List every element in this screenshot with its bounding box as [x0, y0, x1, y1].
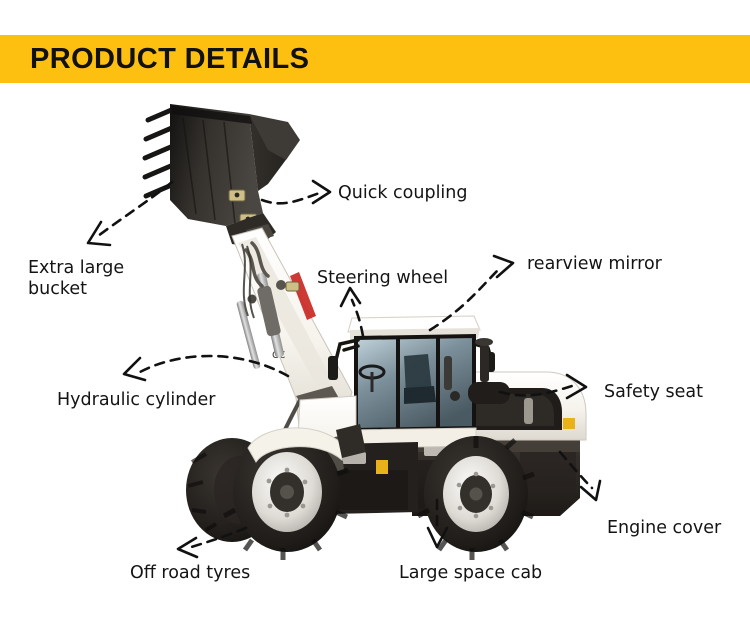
- rearview-mirror-part: [328, 356, 338, 380]
- tyre-rear-far: [186, 438, 278, 542]
- tyre-rear: [418, 436, 534, 560]
- arrow-hydraulic-cylinder: [124, 356, 288, 380]
- tyre-front: [224, 432, 348, 560]
- hydraulic-cylinder-part: [236, 272, 299, 370]
- arrow-engine-cover: [560, 452, 600, 500]
- callout-label-safety-seat: Safety seat: [604, 382, 703, 403]
- arrow-off-road-tyres: [178, 528, 246, 557]
- callout-label-off-road-tyres: Off road tyres: [130, 563, 250, 584]
- operator-cab: [328, 316, 510, 448]
- engine-cover-part: [412, 438, 580, 516]
- callout-label-engine-cover: Engine cover: [607, 518, 721, 539]
- callout-label-steering-wheel: Steering wheel: [317, 268, 448, 289]
- arrow-quick-coupling: [262, 181, 330, 203]
- callout-label-extra-large-bucket: Extra large bucket: [28, 258, 124, 300]
- bucket-assembly: [145, 104, 300, 248]
- callout-label-hydraulic-cylinder: Hydraulic cylinder: [57, 390, 215, 411]
- product-details-page: PRODUCT DETAILS: [0, 0, 750, 634]
- callout-label-quick-coupling: Quick coupling: [338, 183, 468, 204]
- callout-label-rearview-mirror: rearview mirror: [527, 254, 662, 275]
- arrow-safety-seat: [500, 375, 586, 398]
- boom-arm: C€: [232, 228, 352, 472]
- callout-label-large-space-cab: Large space cab: [399, 563, 542, 584]
- svg-text:C€: C€: [272, 350, 285, 361]
- arrow-steering-wheel: [341, 288, 363, 336]
- page-title: PRODUCT DETAILS: [30, 44, 309, 74]
- arrow-extra-large-bucket: [88, 182, 172, 245]
- arrow-large-space-cab: [428, 500, 447, 547]
